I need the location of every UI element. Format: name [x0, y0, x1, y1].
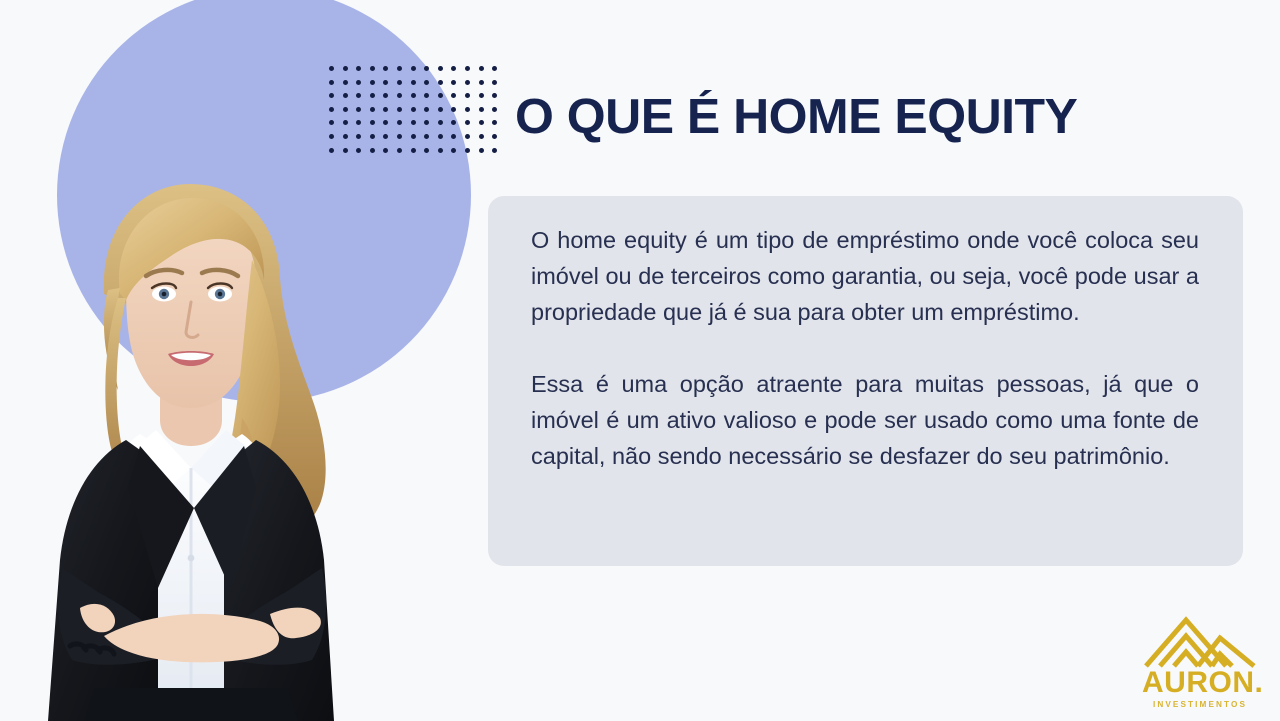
dot-grid-decoration	[329, 66, 497, 154]
slide-canvas: O QUE É HOME EQUITY O home equity é um t…	[0, 0, 1280, 721]
grid-dot	[329, 134, 334, 139]
grid-dot	[451, 66, 456, 71]
grid-dot	[397, 134, 402, 139]
grid-dot	[479, 80, 484, 85]
paragraph-1: O home equity é um tipo de empréstimo on…	[531, 222, 1199, 330]
grid-dot	[479, 66, 484, 71]
grid-dot	[451, 93, 456, 98]
grid-dot	[411, 148, 416, 153]
grid-dot	[465, 66, 470, 71]
grid-dot	[465, 134, 470, 139]
grid-dot	[343, 148, 348, 153]
grid-dot	[329, 120, 334, 125]
grid-dot	[370, 93, 375, 98]
grid-dot	[438, 93, 443, 98]
grid-dot	[492, 120, 497, 125]
grid-dot	[370, 120, 375, 125]
grid-dot	[370, 134, 375, 139]
grid-dot	[397, 93, 402, 98]
grid-dot	[383, 134, 388, 139]
grid-dot	[356, 134, 361, 139]
grid-dot	[383, 120, 388, 125]
businesswoman-photo	[8, 168, 368, 721]
grid-dot	[329, 148, 334, 153]
grid-dot	[451, 80, 456, 85]
grid-dot	[465, 80, 470, 85]
grid-dot	[438, 134, 443, 139]
grid-dot	[329, 66, 334, 71]
grid-dot	[479, 120, 484, 125]
grid-dot	[343, 66, 348, 71]
grid-dot	[438, 66, 443, 71]
grid-dot	[343, 120, 348, 125]
grid-dot	[356, 148, 361, 153]
grid-dot	[424, 107, 429, 112]
grid-dot	[411, 120, 416, 125]
grid-dot	[383, 80, 388, 85]
content-card: O home equity é um tipo de empréstimo on…	[488, 196, 1243, 566]
grid-dot	[329, 93, 334, 98]
grid-dot	[451, 134, 456, 139]
grid-dot	[356, 93, 361, 98]
grid-dot	[370, 148, 375, 153]
grid-dot	[465, 148, 470, 153]
grid-dot	[492, 134, 497, 139]
auron-logo: AURON. INVESTIMENTOS	[1142, 614, 1258, 709]
grid-dot	[424, 120, 429, 125]
grid-dot	[329, 107, 334, 112]
grid-dot	[438, 80, 443, 85]
grid-dot	[370, 66, 375, 71]
grid-dot	[397, 80, 402, 85]
grid-dot	[451, 107, 456, 112]
grid-dot	[383, 148, 388, 153]
grid-dot	[438, 120, 443, 125]
grid-dot	[397, 66, 402, 71]
grid-dot	[356, 107, 361, 112]
grid-dot	[383, 93, 388, 98]
grid-dot	[479, 93, 484, 98]
grid-dot	[356, 80, 361, 85]
grid-dot	[411, 107, 416, 112]
grid-dot	[343, 107, 348, 112]
grid-dot	[424, 148, 429, 153]
grid-dot	[356, 66, 361, 71]
logo-tagline: INVESTIMENTOS	[1142, 701, 1258, 709]
grid-dot	[451, 120, 456, 125]
grid-dot	[329, 80, 334, 85]
grid-dot	[479, 134, 484, 139]
grid-dot	[343, 80, 348, 85]
grid-dot	[424, 80, 429, 85]
paragraph-2: Essa é uma opção atraente para muitas pe…	[531, 366, 1199, 474]
grid-dot	[383, 107, 388, 112]
grid-dot	[397, 107, 402, 112]
grid-dot	[411, 80, 416, 85]
grid-dot	[411, 66, 416, 71]
grid-dot	[424, 134, 429, 139]
grid-dot	[343, 93, 348, 98]
grid-dot	[492, 66, 497, 71]
grid-dot	[343, 134, 348, 139]
mountain-icon	[1142, 614, 1258, 670]
grid-dot	[424, 66, 429, 71]
grid-dot	[370, 107, 375, 112]
grid-dot	[411, 134, 416, 139]
grid-dot	[438, 148, 443, 153]
grid-dot	[465, 93, 470, 98]
grid-dot	[451, 148, 456, 153]
page-title: O QUE É HOME EQUITY	[515, 93, 1077, 142]
grid-dot	[356, 120, 361, 125]
grid-dot	[492, 148, 497, 153]
grid-dot	[411, 93, 416, 98]
grid-dot	[465, 120, 470, 125]
grid-dot	[383, 66, 388, 71]
grid-dot	[479, 107, 484, 112]
grid-dot	[492, 80, 497, 85]
grid-dot	[397, 120, 402, 125]
grid-dot	[438, 107, 443, 112]
grid-dot	[465, 107, 470, 112]
grid-dot	[424, 93, 429, 98]
grid-dot	[492, 93, 497, 98]
logo-wordmark: AURON.	[1142, 668, 1258, 698]
grid-dot	[479, 148, 484, 153]
grid-dot	[492, 107, 497, 112]
grid-dot	[397, 148, 402, 153]
grid-dot	[370, 80, 375, 85]
